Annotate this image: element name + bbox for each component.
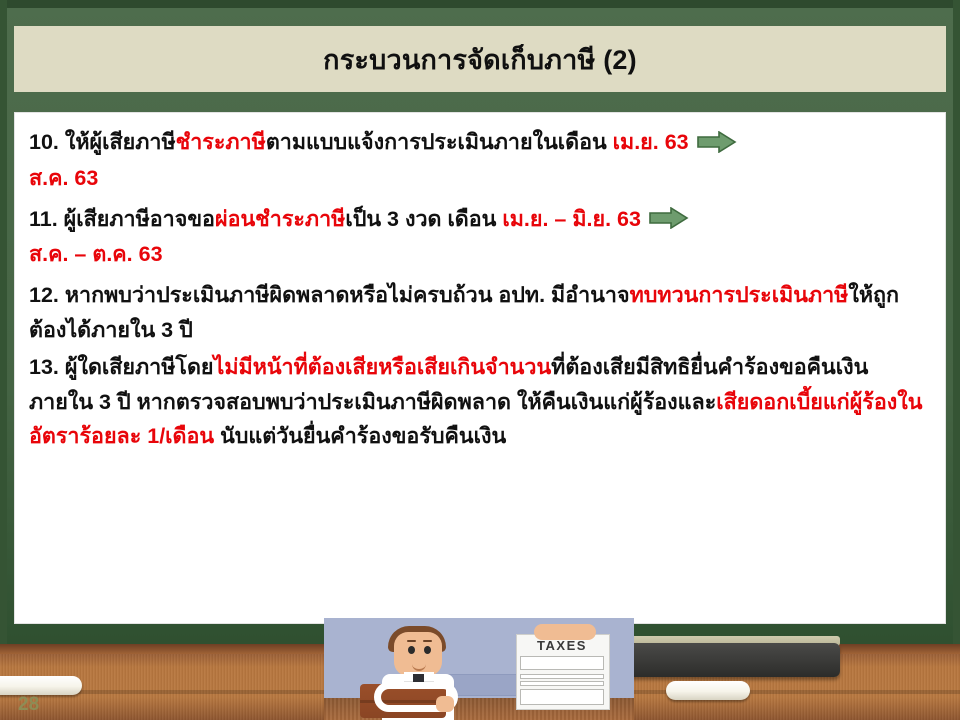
item-11-run-1: ผ่อนชำระภาษี (215, 207, 345, 231)
man-eye-right (424, 646, 431, 654)
chalkboard-frame-left (0, 0, 7, 646)
man-eye-left (408, 646, 415, 654)
man-eyebrow-right (423, 640, 432, 642)
item-10-run-1: ชำระภาษี (176, 130, 266, 154)
item-11-second-line: ส.ค. – ต.ค. 63 (29, 242, 163, 266)
illustration-businessman-tax-form: TAXES (324, 618, 634, 720)
item-11-run-2: เป็น 3 งวด เดือน (345, 207, 502, 231)
item-13-run-4: นับแต่วันยื่นคำร้องขอรับคืนเงิน (214, 424, 506, 448)
list-item-13: 13. ผู้ใดเสียภาษีโดยไม่มีหน้าที่ต้องเสีย… (29, 350, 931, 454)
arrow-right-icon (649, 202, 689, 237)
tax-form-row-1 (520, 674, 604, 679)
item-10-second-line: ส.ค. 63 (29, 166, 98, 190)
item-11-number: 11. (29, 207, 58, 231)
item-13-run-1: ไม่มีหน้าที่ต้องเสียหรือเสียเกินจำนวน (214, 355, 552, 379)
item-11-run-3: เม.ย. – มิ.ย. 63 (502, 207, 641, 231)
item-12-number: 12. (29, 283, 59, 307)
page-number: 28 (18, 694, 39, 716)
list-item-12: 12. หากพบว่าประเมินภาษีผิดพลาดหรือไม่ครบ… (29, 278, 931, 348)
slide: กระบวนการจัดเก็บภาษี (2) 10. ให้ผู้เสียภ… (0, 0, 960, 720)
list-item-11: 11. ผู้เสียภาษีอาจขอผ่อนชำระภาษีเป็น 3 ง… (29, 202, 931, 273)
content-panel: 10. ให้ผู้เสียภาษีชำระภาษีตามแบบแจ้งการป… (14, 112, 946, 624)
man-hand (436, 696, 454, 712)
list-item-10: 10. ให้ผู้เสียภาษีชำระภาษีตามแบบแจ้งการป… (29, 125, 931, 196)
item-13-number: 13. (29, 355, 59, 379)
chalkboard-frame-top (0, 0, 960, 8)
item-13-run-0: ผู้ใดเสียภาษีโดย (59, 355, 214, 379)
item-10-run-0: ให้ผู้เสียภาษี (59, 130, 176, 154)
man-eyebrow-left (407, 640, 416, 642)
tax-form-label: TAXES (522, 638, 602, 653)
item-10-run-2: ตามแบบแจ้งการประเมินภายในเดือน (266, 130, 613, 154)
tax-form-grid-2 (520, 689, 604, 705)
tax-form-row-2 (520, 681, 604, 686)
slide-title-bar: กระบวนการจัดเก็บภาษี (2) (14, 26, 946, 92)
item-12-run-1: ทบทวนการประเมินภาษี (630, 283, 849, 307)
item-11-run-0: ผู้เสียภาษีอาจขอ (58, 207, 215, 231)
chalk-stick-right (666, 681, 750, 700)
item-10-run-3: เม.ย. 63 (613, 130, 689, 154)
tax-form-grid-1 (520, 656, 604, 670)
page-title: กระบวนการจัดเก็บภาษี (2) (323, 38, 637, 81)
chalk-stick-left (0, 676, 82, 695)
chalkboard-frame-right (953, 0, 960, 646)
item-12-run-0: หากพบว่าประเมินภาษีผิดพลาดหรือไม่ครบถ้วน… (59, 283, 630, 307)
arrow-right-icon (697, 126, 737, 161)
item-10-number: 10. (29, 130, 59, 154)
